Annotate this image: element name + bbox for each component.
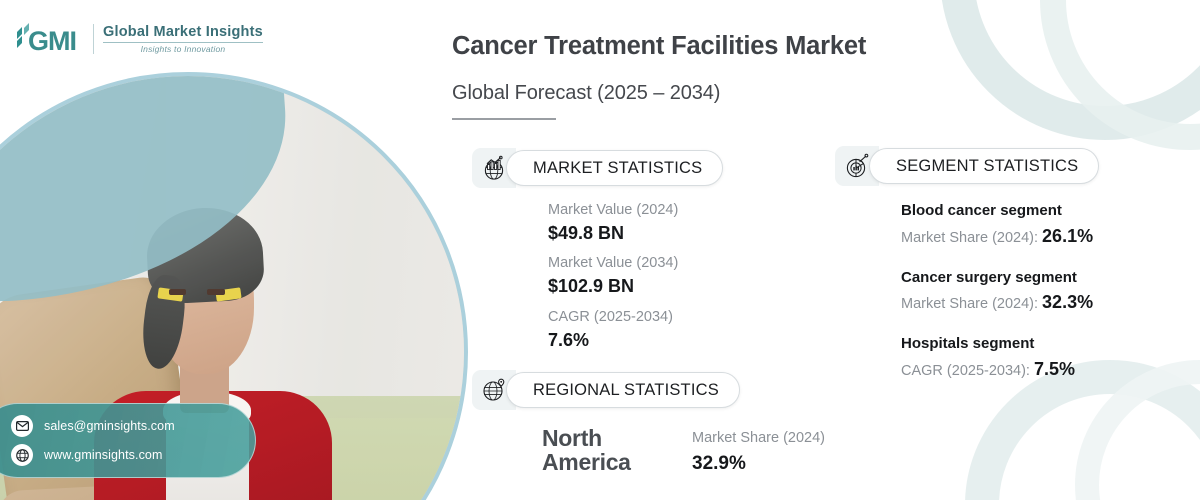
brand-name: Global Market Insights	[103, 25, 263, 40]
brand-tagline: Insights to Innovation	[103, 45, 263, 54]
segment-statistics-chip: SEGMENT STATISTICS	[869, 148, 1099, 184]
page-subtitle: Global Forecast (2025 – 2034)	[452, 82, 720, 105]
regional-stat: Market Share (2024) 32.9%	[692, 426, 825, 477]
regional-statistics-section: REGIONAL STATISTICS North America Market…	[472, 370, 825, 477]
segment-metric-value: 7.5%	[1034, 359, 1075, 379]
market-stat-label: Market Value (2034)	[548, 253, 723, 274]
content-area: Cancer Treatment Facilities Market Globa…	[452, 0, 1200, 500]
segment-metric-label: Market Share (2024):	[901, 296, 1038, 312]
regional-statistics-body: North America Market Share (2024) 32.9%	[542, 426, 825, 477]
segment-metric-label: CAGR (2025-2034):	[901, 363, 1030, 379]
market-stat-item: CAGR (2025-2034) 7.6%	[548, 307, 723, 352]
market-statistics-heading: MARKET STATISTICS	[533, 159, 702, 178]
envelope-icon	[11, 415, 33, 437]
logo-divider	[93, 24, 94, 54]
market-stat-item: Market Value (2034) $102.9 BN	[548, 253, 723, 298]
regional-statistics-header: REGIONAL STATISTICS	[472, 370, 825, 410]
market-stat-label: CAGR (2025-2034)	[548, 307, 723, 328]
segment-item: Hospitals segment CAGR (2025-2034): 7.5%	[901, 333, 1099, 382]
market-statistics-section: MARKET STATISTICS Market Value (2024) $4…	[472, 148, 723, 360]
svg-text:GMI: GMI	[28, 26, 76, 56]
segment-statistics-list: Blood cancer segment Market Share (2024)…	[901, 200, 1099, 382]
market-stat-item: Market Value (2024) $49.8 BN	[548, 200, 723, 245]
market-stat-value: 7.6%	[548, 328, 723, 352]
market-statistics-chip: MARKET STATISTICS	[506, 150, 723, 186]
regional-statistics-chip: REGIONAL STATISTICS	[506, 372, 740, 408]
logo-text-block: Global Market Insights Insights to Innov…	[103, 25, 263, 54]
segment-name: Cancer surgery segment	[901, 267, 1099, 290]
segment-metric-label: Market Share (2024):	[901, 230, 1038, 246]
segment-statistics-section: SEGMENT STATISTICS Blood cancer segment …	[835, 146, 1099, 400]
market-stat-value: $49.8 BN	[548, 221, 723, 245]
regional-stat-label: Market Share (2024)	[692, 428, 825, 449]
market-statistics-header: MARKET STATISTICS	[472, 148, 723, 188]
segment-statistics-header: SEGMENT STATISTICS	[835, 146, 1099, 186]
segment-metric-value: 32.3%	[1042, 292, 1093, 312]
brand-logo[interactable]: GMI Global Market Insights Insights to I…	[14, 22, 263, 56]
page-title: Cancer Treatment Facilities Market	[452, 32, 982, 61]
infographic-canvas: GMI Global Market Insights Insights to I…	[0, 0, 1200, 500]
market-statistics-list: Market Value (2024) $49.8 BN Market Valu…	[548, 200, 723, 352]
regional-statistics-heading: REGIONAL STATISTICS	[533, 381, 719, 400]
segment-metric: Market Share (2024): 32.3%	[901, 289, 1099, 315]
segment-name: Hospitals segment	[901, 333, 1099, 356]
logo-rule	[103, 42, 263, 43]
segment-metric: CAGR (2025-2034): 7.5%	[901, 356, 1099, 382]
regional-stat-value: 32.9%	[692, 451, 825, 477]
market-stat-label: Market Value (2024)	[548, 200, 723, 221]
segment-name: Blood cancer segment	[901, 200, 1099, 223]
gmi-logo-icon: GMI	[14, 22, 84, 56]
globe-icon	[11, 444, 33, 466]
segment-item: Blood cancer segment Market Share (2024)…	[901, 200, 1099, 249]
regional-region-name: North America	[542, 426, 692, 474]
contact-info-panel: sales@gminsights.com www.gminsights.com	[0, 403, 256, 478]
market-stat-value: $102.9 BN	[548, 274, 723, 298]
segment-metric: Market Share (2024): 26.1%	[901, 223, 1099, 249]
title-divider	[452, 118, 556, 120]
contact-email-row[interactable]: sales@gminsights.com	[11, 415, 237, 437]
segment-metric-value: 26.1%	[1042, 226, 1093, 246]
contact-email: sales@gminsights.com	[44, 419, 175, 433]
segment-item: Cancer surgery segment Market Share (202…	[901, 267, 1099, 316]
contact-website: www.gminsights.com	[44, 448, 163, 462]
contact-website-row[interactable]: www.gminsights.com	[11, 444, 237, 466]
segment-statistics-heading: SEGMENT STATISTICS	[896, 157, 1078, 176]
